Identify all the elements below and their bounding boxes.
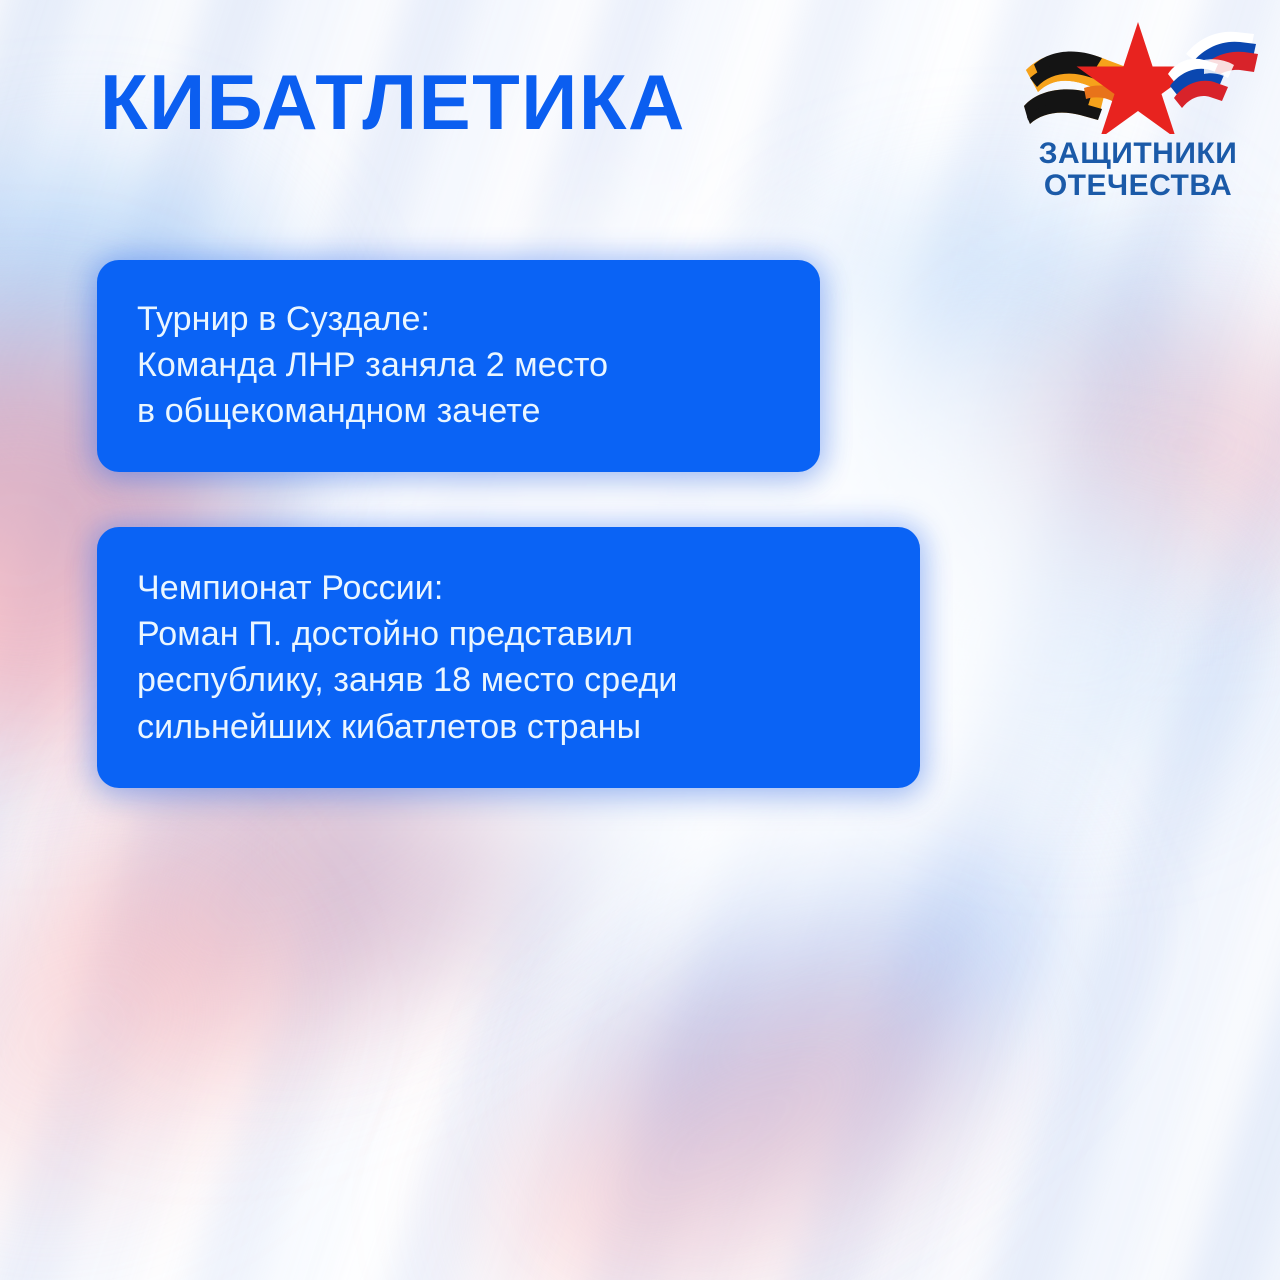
page-title: КИБАТЛЕТИКА [100,62,686,144]
logo-text-line-2: ОТЕЧЕСТВА [1018,170,1258,202]
russian-flag-ribbon-icon [1168,32,1258,108]
poster-root: КИБАТЛЕТИКА [0,0,1280,1280]
logo-text: ЗАЩИТНИКИ ОТЕЧЕСТВА [1018,138,1258,202]
logo: ЗАЩИТНИКИ ОТЕЧЕСТВА [1018,14,1258,210]
russia-championship-text: Чемпионат России: Роман П. достойно пред… [137,565,880,750]
logo-text-line-1: ЗАЩИТНИКИ [1018,138,1258,170]
logo-emblem-icon [1018,14,1258,134]
tournament-suzdal-text: Турнир в Суздале: Команда ЛНР заняла 2 м… [137,296,780,435]
russia-championship-card: Чемпионат России: Роман П. достойно пред… [97,527,920,788]
tournament-suzdal-card: Турнир в Суздале: Команда ЛНР заняла 2 м… [97,260,820,472]
